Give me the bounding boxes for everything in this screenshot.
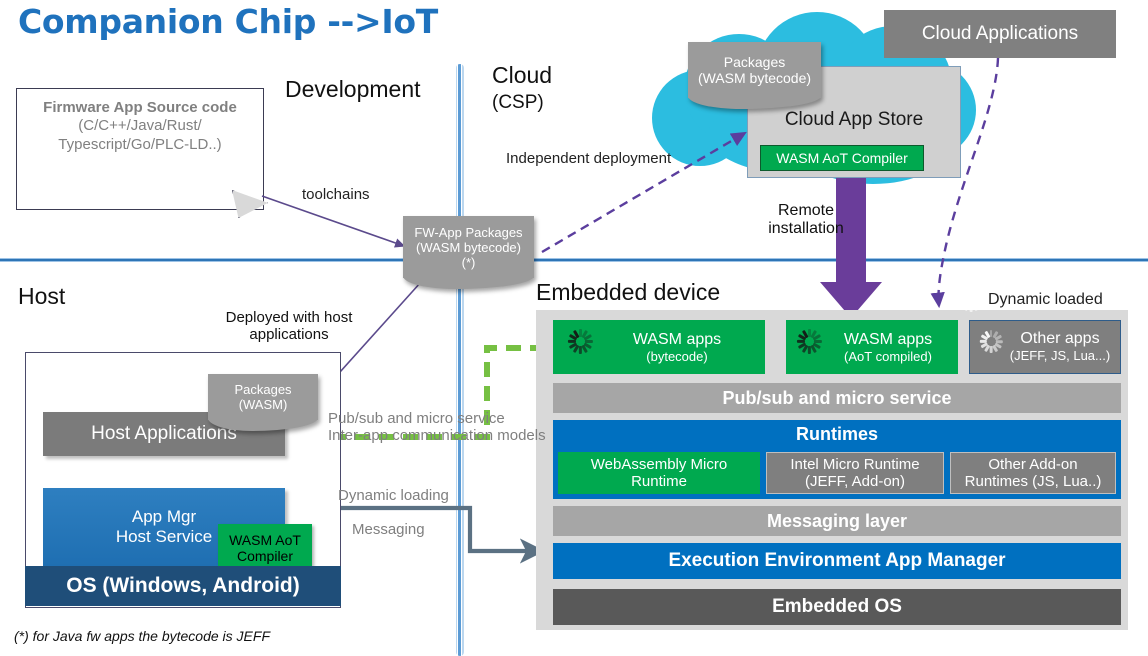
runtime-webassembly-micro[interactable]: WebAssembly Micro Runtime — [558, 452, 760, 494]
label-independent-deployment: Independent deployment — [506, 150, 671, 167]
embedded-runtimes-group: Runtimes WebAssembly Micro Runtime Intel… — [553, 420, 1121, 499]
deployed-line2: applications — [249, 326, 328, 343]
label-dynamic-loading: Dynamic loading — [338, 487, 449, 504]
embedded-app-wasm-bytecode[interactable]: WASM apps (bytecode) — [553, 320, 765, 374]
app-mgr-line2: Host Service — [116, 527, 212, 547]
app-0-sub: (bytecode) — [646, 349, 707, 364]
cloud-wasm-aot-compiler-box[interactable]: WASM AoT Compiler — [760, 145, 924, 171]
runtime-2-line2: Runtimes (JS, Lua..) — [965, 473, 1102, 490]
cloud-app-store-title: Cloud App Store — [748, 109, 960, 131]
runtime-1-line2: (JEFF, Add-on) — [805, 473, 905, 490]
fw-packages-line3: (*) — [462, 255, 476, 270]
dynamic-loaded-legend-icon — [958, 288, 982, 312]
host-aot-line2: Compiler — [237, 548, 293, 564]
runtime-intel-micro[interactable]: Intel Micro Runtime (JEFF, Add-on) — [766, 452, 944, 494]
app-1-name: WASM apps — [844, 331, 932, 349]
embedded-messaging-layer-bar: Messaging layer — [553, 506, 1121, 536]
runtime-0-line2: Runtime — [631, 473, 687, 490]
embedded-os-bar: Embedded OS — [553, 589, 1121, 625]
label-deployed-with-host-applications: Deployed with host applications — [203, 309, 375, 343]
pubsub-label-line1: Pub/sub and micro service — [328, 410, 558, 427]
runtime-1-line1: Intel Micro Runtime — [790, 456, 919, 473]
embedded-app-wasm-aot[interactable]: WASM apps (AoT compiled) — [786, 320, 958, 374]
runtime-0-line1: WebAssembly Micro — [591, 456, 727, 473]
packages-host-callout: Packages (WASM) — [208, 374, 318, 420]
host-os-bar: OS (Windows, Android) — [25, 566, 341, 606]
packages-host-line2: (WASM) — [239, 397, 288, 412]
deployed-line1: Deployed with host — [226, 309, 353, 326]
fw-packages-line1: FW-App Packages — [414, 225, 522, 240]
label-toolchains: toolchains — [302, 186, 370, 203]
runtime-other-addon[interactable]: Other Add-on Runtimes (JS, Lua..) — [950, 452, 1116, 494]
remote-installation-line2: installation — [768, 220, 844, 238]
remote-installation-line1: Remote — [778, 202, 834, 220]
packages-cloud-callout: Packages (WASM bytecode) — [688, 42, 821, 98]
footnote: (*) for Java fw apps the bytecode is JEF… — [14, 628, 270, 644]
packages-host-line1: Packages — [234, 382, 291, 397]
diagram-canvas: Companion Chip -->IoT Development Cloud … — [0, 0, 1148, 653]
fw-app-packages-callout: FW-App Packages (WASM bytecode) (*) — [403, 216, 534, 278]
packages-cloud-line1: Packages — [724, 54, 785, 70]
pubsub-label-line2: Inter-app communication models — [328, 427, 558, 444]
dynamic-loaded-spinner-icon — [567, 328, 593, 354]
runtimes-title: Runtimes — [553, 422, 1121, 446]
embedded-pubsub-bar: Pub/sub and micro service — [553, 383, 1121, 413]
runtime-2-line1: Other Add-on — [988, 456, 1077, 473]
label-remote-installation: Remote installation — [758, 202, 854, 238]
app-2-name: Other apps — [1020, 330, 1099, 348]
dynamic-loaded-spinner-icon — [796, 328, 822, 354]
remote-installation-arrow — [820, 176, 882, 318]
embedded-app-other[interactable]: Other apps (JEFF, JS, Lua...) — [969, 320, 1121, 374]
app-mgr-line1: App Mgr — [132, 507, 196, 527]
host-aot-line1: WASM AoT — [229, 532, 301, 548]
app-2-sub: (JEFF, JS, Lua...) — [1010, 348, 1110, 363]
label-pubsub-inter-app: Pub/sub and micro service Inter-app comm… — [328, 410, 558, 444]
embedded-app-manager-bar: Execution Environment App Manager — [553, 543, 1121, 579]
fw-packages-line2: (WASM bytecode) — [416, 240, 521, 255]
app-1-sub: (AoT compiled) — [844, 349, 932, 364]
label-messaging: Messaging — [352, 521, 425, 538]
dynamic-loaded-spinner-icon — [978, 329, 1002, 353]
cloud-applications-box[interactable]: Cloud Applications — [884, 10, 1116, 58]
app-0-name: WASM apps — [633, 331, 721, 349]
host-wasm-aot-compiler-box[interactable]: WASM AoT Compiler — [218, 524, 312, 572]
packages-cloud-line2: (WASM bytecode) — [698, 70, 811, 86]
label-dynamic-loaded: Dynamic loaded — [988, 291, 1103, 309]
